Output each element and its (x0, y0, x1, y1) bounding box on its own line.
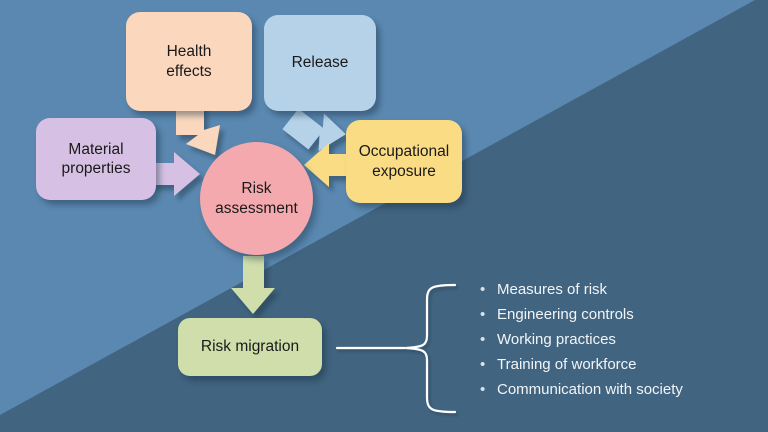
diagram-canvas: Health effects Release Material properti… (0, 0, 768, 432)
node-occupational-exposure-label: Occupational exposure (351, 142, 457, 181)
list-item-label: Training of workforce (497, 356, 637, 373)
list-item: • Training of workforce (480, 356, 683, 381)
bullet-icon: • (480, 282, 497, 297)
node-material-properties[interactable]: Material properties (36, 118, 156, 200)
list-item: • Communication with society (480, 381, 683, 406)
outcome-list: • Measures of risk • Engineering control… (480, 281, 683, 406)
node-risk-migration-label: Risk migration (193, 337, 307, 356)
node-release[interactable]: Release (264, 15, 376, 111)
list-item-label: Engineering controls (497, 306, 634, 323)
node-risk-migration[interactable]: Risk migration (178, 318, 322, 376)
arrow-occupational-to-risk (304, 143, 352, 187)
bullet-icon: • (480, 307, 497, 322)
brace-connector (337, 285, 455, 412)
list-item-label: Working practices (497, 331, 616, 348)
list-item-label: Communication with society (497, 381, 683, 398)
node-occupational-exposure[interactable]: Occupational exposure (346, 120, 462, 203)
list-item-label: Measures of risk (497, 281, 607, 298)
list-item: • Engineering controls (480, 306, 683, 331)
arrow-health-to-risk (176, 104, 220, 155)
node-health-effects[interactable]: Health effects (126, 12, 252, 111)
bullet-icon: • (480, 382, 497, 397)
list-item: • Working practices (480, 331, 683, 356)
arrow-risk-to-migration (231, 256, 275, 314)
list-item: • Measures of risk (480, 281, 683, 306)
node-risk-assessment[interactable]: Risk assessment (200, 142, 313, 255)
arrow-material-to-risk (150, 152, 200, 196)
node-material-properties-label: Material properties (54, 140, 139, 179)
bullet-icon: • (480, 357, 497, 372)
node-health-effects-label: Health effects (158, 42, 219, 81)
node-risk-assessment-label: Risk assessment (207, 179, 306, 218)
bullet-icon: • (480, 332, 497, 347)
node-release-label: Release (284, 53, 357, 72)
